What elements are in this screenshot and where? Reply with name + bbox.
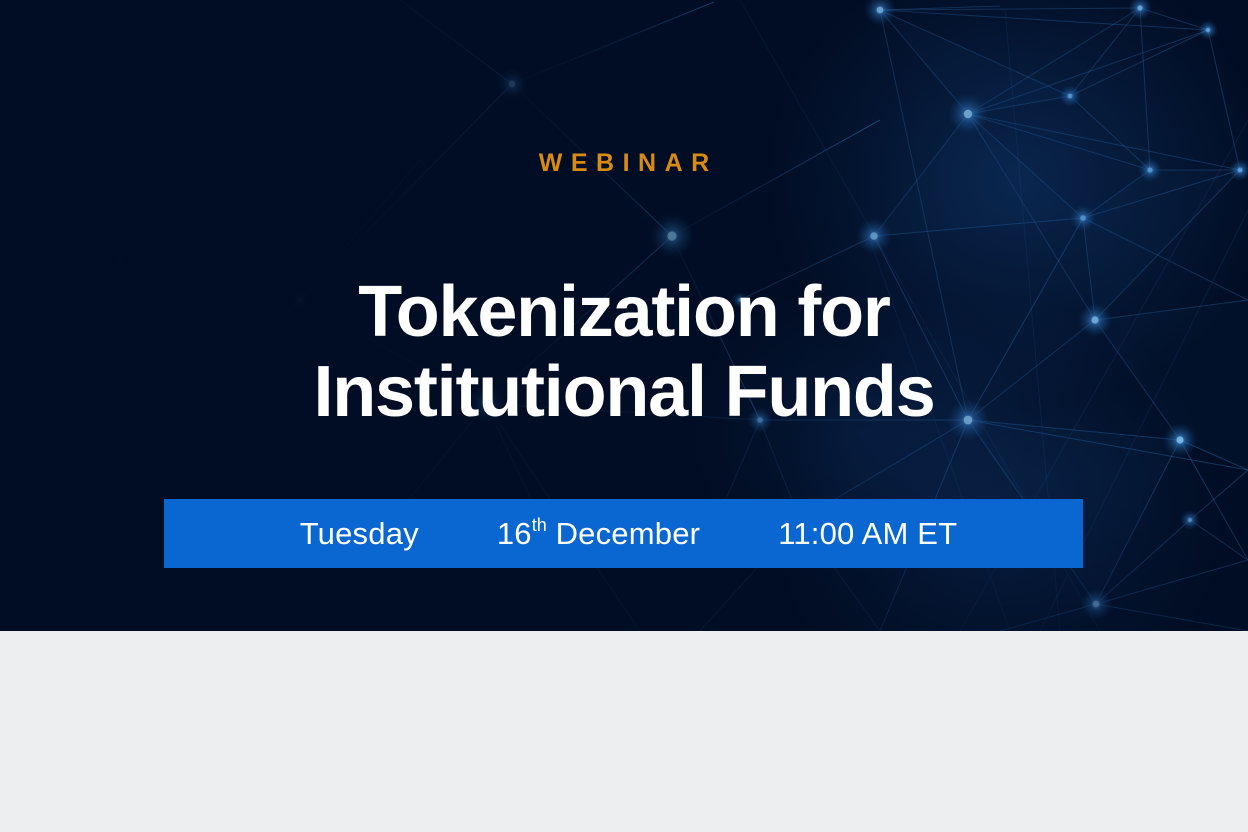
event-date-ordinal: th	[532, 515, 547, 535]
webinar-promo-banner: WEBINAR Tokenization for Institutional F…	[0, 0, 1248, 832]
hero-section: WEBINAR Tokenization for Institutional F…	[0, 0, 1248, 631]
event-date-month: December	[556, 516, 701, 551]
page-title-line-1: Tokenization for	[0, 272, 1248, 352]
hero-content: WEBINAR Tokenization for Institutional F…	[0, 0, 1248, 631]
event-date-number: 16	[497, 516, 532, 551]
event-datetime-bar: Tuesday 16th December 11:00 AM ET	[164, 499, 1083, 568]
page-title: Tokenization for Institutional Funds	[0, 272, 1248, 432]
eyebrow-label: WEBINAR	[0, 146, 1248, 180]
event-time: 11:00 AM ET	[778, 516, 957, 552]
page-title-line-2: Institutional Funds	[0, 352, 1248, 432]
event-day: Tuesday	[300, 516, 419, 552]
event-datetime-inner: Tuesday 16th December 11:00 AM ET	[290, 516, 958, 552]
footer-section: HOSTED BY NAV	[0, 631, 1248, 832]
event-date: 16th December	[497, 516, 700, 552]
